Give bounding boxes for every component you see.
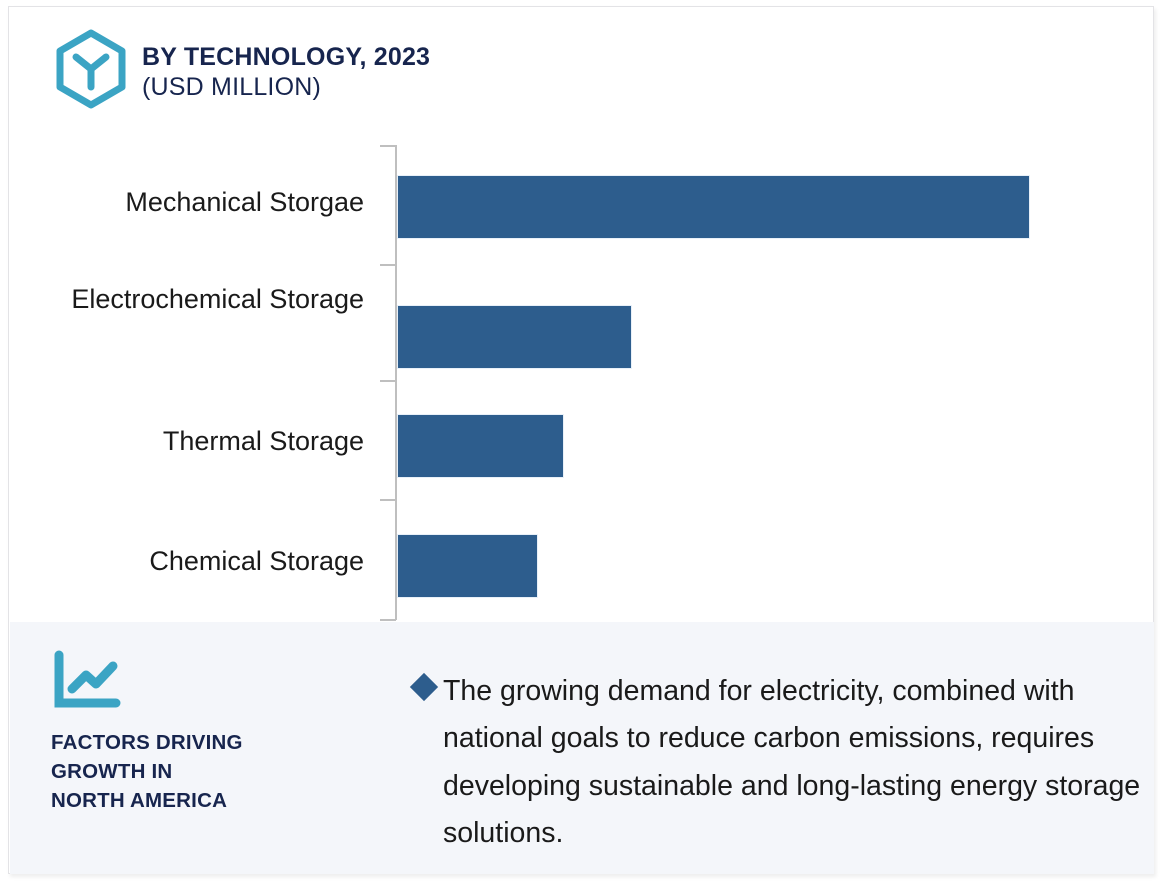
page-subtitle: (USD MILLION) <box>142 73 430 103</box>
bar-electrochemical-storage[interactable] <box>397 305 632 369</box>
axis-tick <box>380 264 396 266</box>
factors-heading: FACTORS DRIVING GROWTH IN NORTH AMERICA <box>51 728 381 815</box>
bar-category-label: Mechanical Storgae <box>9 185 364 221</box>
factors-heading-line-2: GROWTH IN <box>51 757 381 786</box>
page-title: BY TECHNOLOGY, 2023 <box>142 43 430 73</box>
factors-heading-line-3: NORTH AMERICA <box>51 786 381 815</box>
factors-panel-right: The growing demand for electricity, comb… <box>414 668 1156 857</box>
diamond-bullet-icon <box>410 673 438 701</box>
factors-panel: FACTORS DRIVING GROWTH IN NORTH AMERICA … <box>10 622 1154 874</box>
factors-heading-line-1: FACTORS DRIVING <box>51 728 381 757</box>
axis-tick <box>380 499 396 501</box>
bar-row: Electrochemical Storage <box>9 282 1155 382</box>
header: BY TECHNOLOGY, 2023 (USD MILLION) <box>54 29 430 109</box>
bar-chart: Mechanical Storgae Electrochemical Stora… <box>9 127 1155 627</box>
bar-chemical-storage[interactable] <box>397 534 538 598</box>
axis-tick <box>380 145 396 147</box>
bar-thermal-storage[interactable] <box>397 414 564 478</box>
bar-row: Chemical Storage <box>9 522 1155 602</box>
line-chart-icon <box>51 650 123 712</box>
factors-panel-left: FACTORS DRIVING GROWTH IN NORTH AMERICA <box>51 650 381 815</box>
bar-row: Mechanical Storgae <box>9 167 1155 247</box>
axis-tick <box>380 619 396 621</box>
hexagon-y-icon <box>54 29 128 109</box>
header-text: BY TECHNOLOGY, 2023 (USD MILLION) <box>142 43 430 102</box>
bar-category-label: Chemical Storage <box>9 544 364 580</box>
bar-mechanical-storage[interactable] <box>397 175 1030 239</box>
bar-row: Thermal Storage <box>9 402 1155 482</box>
factors-bullet-text: The growing demand for electricity, comb… <box>443 668 1155 857</box>
bar-category-label: Electrochemical Storage <box>9 282 364 318</box>
infographic-card: BY TECHNOLOGY, 2023 (USD MILLION) Mechan… <box>8 6 1154 874</box>
bar-category-label: Thermal Storage <box>9 424 364 460</box>
